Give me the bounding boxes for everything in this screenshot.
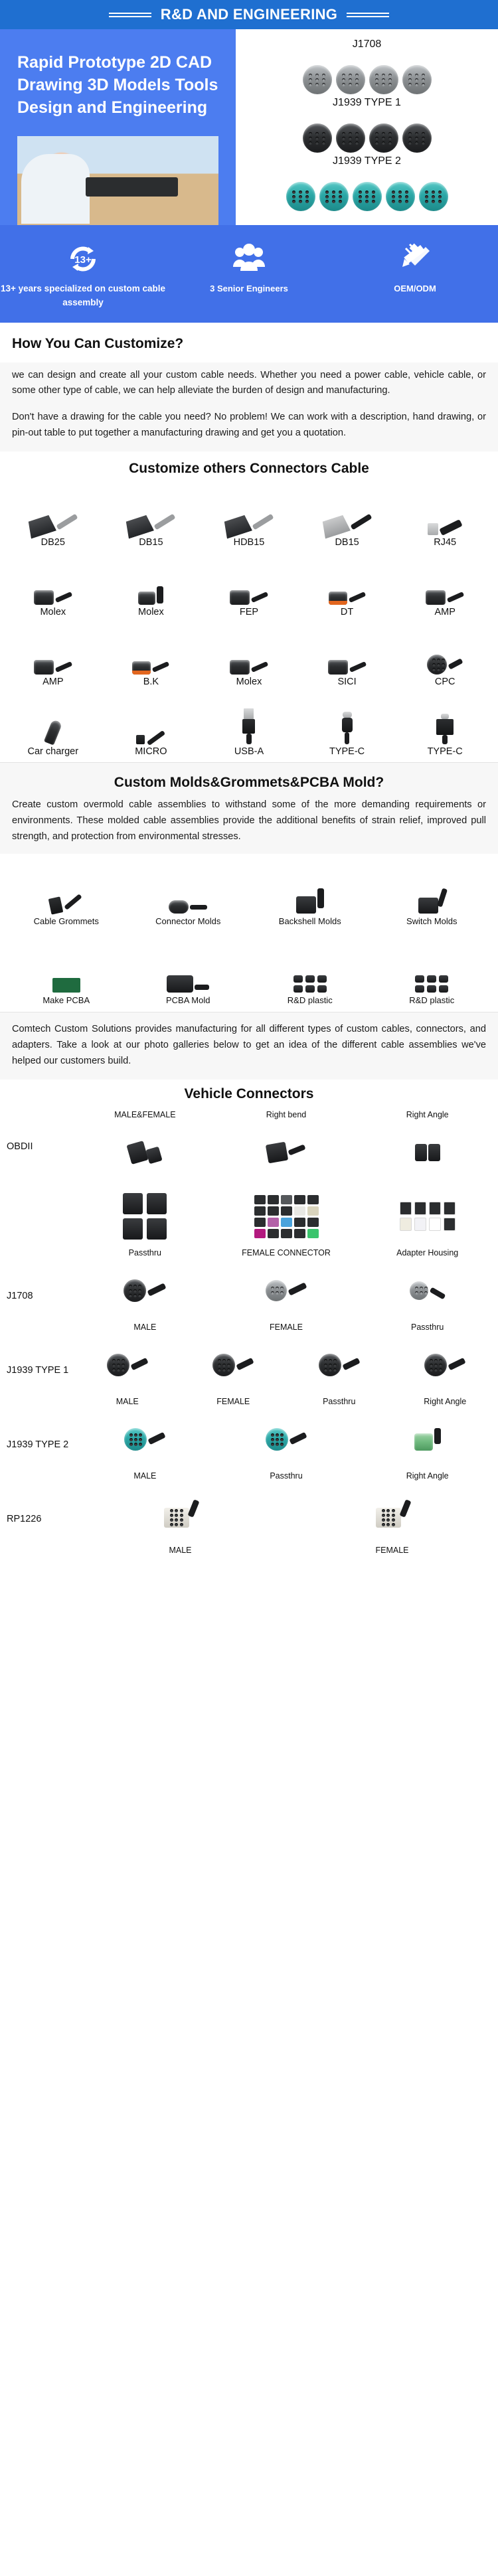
connector-cell[interactable]: HDB15 xyxy=(200,486,298,553)
vehicle-connector-label: FEMALE xyxy=(286,1544,498,1555)
vehicle-connector-row: J1939 TYPE 2MALEPassthruRight Angle xyxy=(0,1408,498,1482)
vehicle-connector-image xyxy=(286,1483,498,1544)
hero-connector-image[interactable] xyxy=(303,65,332,94)
mold-label: Make PCBA xyxy=(5,993,127,1012)
vehicle-connector-image xyxy=(216,1409,357,1470)
vehicle-items: MALEFEMALEPassthruRight Angle xyxy=(74,1334,498,1406)
mold-image xyxy=(127,858,250,914)
hero-connector-image[interactable] xyxy=(402,65,432,94)
connector-cell[interactable]: DB15 xyxy=(298,486,396,553)
vehicle-connector-cell[interactable]: Adapter Housing xyxy=(357,1186,498,1257)
vehicle-connector-label: Adapter Housing xyxy=(357,1247,498,1257)
mold-image xyxy=(127,937,250,993)
vehicle-connector-cell[interactable]: FEMALE xyxy=(181,1334,287,1406)
connector-label: RJ45 xyxy=(396,535,494,553)
mold-image xyxy=(5,937,127,993)
mold-label: R&D plastic xyxy=(249,993,371,1012)
hero-connector-row xyxy=(236,170,498,211)
connector-row: MolexMolexFEPDTAMP xyxy=(0,553,498,623)
mold-row: Make PCBAPCBA MoldR&D plasticR&D plastic xyxy=(0,933,498,1012)
connector-image xyxy=(396,695,494,744)
connector-label: TYPE-C xyxy=(396,744,494,762)
vehicle-connectors-section: Vehicle Connectors OBDIIMALE&FEMALERight… xyxy=(0,1086,498,1556)
molds-title: Custom Molds&Grommets&PCBA Mold? xyxy=(12,775,486,791)
three-people-icon xyxy=(166,240,332,278)
connector-label: DT xyxy=(298,605,396,623)
hero-connector-group: J1708 xyxy=(236,39,498,94)
mold-cell[interactable]: Connector Molds xyxy=(127,858,250,933)
connector-image xyxy=(298,486,396,535)
connector-label: DB25 xyxy=(4,535,102,553)
engineer-at-desk-photo xyxy=(17,136,218,225)
mold-row: Cable GrommetsConnector MoldsBackshell M… xyxy=(0,854,498,933)
vehicle-connector-image xyxy=(216,1122,357,1183)
mold-image xyxy=(371,937,493,993)
connector-label: HDB15 xyxy=(200,535,298,553)
connector-row: AMPB.KMolexSICICPC xyxy=(0,623,498,692)
connector-image xyxy=(102,486,201,535)
stat-caption: 13+ years specialized on custom cable as… xyxy=(0,282,166,309)
hero-connector-group-title: J1708 xyxy=(236,39,498,50)
vehicle-connector-cell[interactable]: FEMALE xyxy=(216,1260,357,1332)
connector-label: MICRO xyxy=(102,744,201,762)
vehicle-category-label: J1939 TYPE 1 xyxy=(0,1365,74,1376)
hero-connector-row xyxy=(236,112,498,153)
hero-connector-image[interactable] xyxy=(386,182,415,211)
vehicle-connector-image xyxy=(74,1186,216,1247)
vehicle-connector-label: FEMALE CONNECTOR xyxy=(216,1247,357,1257)
vehicle-connector-row: OBDIIMALE&FEMALERight bendRight Angle xyxy=(0,1109,498,1184)
connector-cell[interactable]: TYPE-C xyxy=(298,695,396,762)
vehicle-connector-cell[interactable]: FEMALE xyxy=(286,1483,498,1555)
stat-item: 3 Senior Engineers xyxy=(166,240,332,309)
vehicle-connector-label: FEMALE xyxy=(181,1396,287,1406)
vehicle-connector-image xyxy=(392,1334,498,1396)
connector-label: Car charger xyxy=(4,744,102,762)
connector-image xyxy=(4,486,102,535)
vehicle-connector-label: Passthru xyxy=(74,1247,216,1257)
vehicle-connector-label: Passthru xyxy=(216,1470,357,1481)
vehicle-connector-cell[interactable]: Passthru xyxy=(216,1409,357,1481)
connector-cell[interactable]: DB25 xyxy=(4,486,102,553)
hero-connector-image[interactable] xyxy=(353,182,382,211)
mold-cell[interactable]: R&D plastic xyxy=(371,937,493,1012)
vehicle-connector-cell[interactable]: MALE xyxy=(74,1483,286,1555)
connector-image xyxy=(200,486,298,535)
vehicle-connector-image xyxy=(216,1186,357,1247)
hero-connector-group-title: J1939 TYPE 2 xyxy=(236,155,498,167)
stats-strip: 13+13+ years specialized on custom cable… xyxy=(0,225,498,323)
vehicle-connector-image xyxy=(74,1409,216,1470)
connector-cell[interactable]: USB-A xyxy=(200,695,298,762)
vehicle-connector-row: J1939 TYPE 1MALEFEMALEPassthruRight Angl… xyxy=(0,1333,498,1408)
vehicle-connector-image xyxy=(216,1260,357,1321)
connector-cell[interactable]: MICRO xyxy=(102,695,201,762)
mold-cell[interactable]: Make PCBA xyxy=(5,937,127,1012)
connector-image xyxy=(200,695,298,744)
connector-image xyxy=(298,556,396,605)
connector-image xyxy=(396,556,494,605)
vehicle-connector-image xyxy=(74,1334,181,1396)
connector-label: Molex xyxy=(4,605,102,623)
customize-title: How You Can Customize? xyxy=(12,336,486,352)
connector-label: CPC xyxy=(396,675,494,692)
vehicle-category-label: J1939 TYPE 2 xyxy=(0,1439,74,1450)
hero-connector-image[interactable] xyxy=(303,123,332,153)
vehicle-connector-label: Passthru xyxy=(286,1396,392,1406)
vehicle-connector-label: MALE xyxy=(74,1470,216,1481)
hero-headline: Rapid Prototype 2D CAD Drawing 3D Models… xyxy=(17,52,218,119)
connector-cell[interactable]: AMP xyxy=(4,625,102,692)
connector-image xyxy=(4,625,102,675)
connector-image xyxy=(396,486,494,535)
vehicle-connector-label: Right Angle xyxy=(392,1396,498,1406)
hero-connector-image[interactable] xyxy=(286,182,315,211)
connector-label: DB15 xyxy=(298,535,396,553)
hero-connector-image[interactable] xyxy=(419,182,448,211)
mold-cell[interactable]: Switch Molds xyxy=(371,858,493,933)
vehicle-connector-label: MALE xyxy=(74,1544,286,1555)
vehicle-connector-cell[interactable]: Right bend xyxy=(216,1110,357,1183)
vehicle-connector-cell[interactable]: MALE xyxy=(74,1334,181,1406)
mold-cell[interactable]: PCBA Mold xyxy=(127,937,250,1012)
vehicle-items: MALEPassthruRight Angle xyxy=(74,1409,498,1481)
pencil-ruler-icon xyxy=(332,240,498,278)
vehicle-connector-row: J1708MALEFEMALEPassthru xyxy=(0,1259,498,1333)
connector-cell[interactable]: FEP xyxy=(200,556,298,623)
mold-cell[interactable]: R&D plastic xyxy=(249,937,371,1012)
connector-image xyxy=(298,695,396,744)
vehicle-connector-label: Right Angle xyxy=(357,1470,498,1481)
connector-cell[interactable]: DT xyxy=(298,556,396,623)
connector-label: TYPE-C xyxy=(298,744,396,762)
vehicle-connector-image xyxy=(357,1260,498,1321)
hero-connector-image[interactable] xyxy=(369,65,398,94)
connector-image xyxy=(102,556,201,605)
mold-cell[interactable]: Backshell Molds xyxy=(249,858,371,933)
vehicle-connector-image xyxy=(357,1122,498,1183)
connectors-cable-section: Customize others Connectors Cable DB25DB… xyxy=(0,461,498,762)
connector-image xyxy=(102,695,201,744)
vehicle-connector-row: PassthruFEMALE CONNECTORAdapter Housing xyxy=(0,1184,498,1259)
connector-cell[interactable]: Molex xyxy=(4,556,102,623)
connector-image xyxy=(200,625,298,675)
vehicle-connector-image xyxy=(74,1260,216,1321)
vehicle-connector-label: Right Angle xyxy=(357,1110,498,1122)
connector-image xyxy=(298,625,396,675)
mold-label: Connector Molds xyxy=(127,914,250,933)
hero-connector-image[interactable] xyxy=(402,123,432,153)
stat-caption: OEM/ODM xyxy=(332,282,498,295)
vehicle-connector-cell[interactable]: FEMALE CONNECTOR xyxy=(216,1186,357,1257)
vehicle-connector-image xyxy=(357,1186,498,1247)
vehicle-items: MALE&FEMALERight bendRight Angle xyxy=(74,1110,498,1183)
connector-label: AMP xyxy=(4,675,102,692)
hero-left-panel: Rapid Prototype 2D CAD Drawing 3D Models… xyxy=(0,29,236,225)
customize-paragraph-1: we can design and create all your custom… xyxy=(12,368,486,399)
mold-cell[interactable]: Cable Grommets xyxy=(5,858,127,933)
mold-image xyxy=(249,858,371,914)
connector-cell[interactable]: Car charger xyxy=(4,695,102,762)
connector-label: SICI xyxy=(298,675,396,692)
connector-label: Molex xyxy=(102,605,201,623)
connector-cell[interactable]: RJ45 xyxy=(396,486,494,553)
hero-connector-image[interactable] xyxy=(319,182,349,211)
hero-connector-group: J1939 TYPE 1 xyxy=(236,97,498,153)
vehicle-category-label: RP1226 xyxy=(0,1514,74,1524)
mold-label: Cable Grommets xyxy=(5,914,127,933)
connector-cell[interactable]: Molex xyxy=(200,625,298,692)
banner-rule-right xyxy=(347,13,389,17)
molds-gallery: Cable GrommetsConnector MoldsBackshell M… xyxy=(0,854,498,1012)
connector-label: B.K xyxy=(102,675,201,692)
mold-image xyxy=(5,858,127,914)
connector-image xyxy=(4,556,102,605)
vehicle-connector-cell[interactable]: MALE xyxy=(74,1409,216,1481)
page-banner: R&D AND ENGINEERING xyxy=(0,0,498,29)
vehicle-category-label: OBDII xyxy=(0,1141,74,1152)
customize-paragraph-2: Don't have a drawing for the cable you n… xyxy=(12,410,486,441)
vehicle-connector-image xyxy=(357,1409,498,1470)
vehicle-connector-cell[interactable]: Passthru xyxy=(74,1186,216,1257)
vehicle-connector-image xyxy=(74,1483,286,1544)
hero-connector-row xyxy=(236,53,498,94)
connector-row: DB25DB15HDB15DB15RJ45 xyxy=(0,483,498,553)
connector-label: FEP xyxy=(200,605,298,623)
stat-item: OEM/ODM xyxy=(332,240,498,309)
vehicle-connector-cell[interactable]: MALE&FEMALE xyxy=(74,1110,216,1183)
hero-connector-group: J1939 TYPE 2 xyxy=(236,155,498,211)
banner-title: R&D AND ENGINEERING xyxy=(161,6,337,23)
vehicle-connector-label: Right bend xyxy=(216,1110,357,1122)
molds-paragraph: Create custom overmold cable assemblies … xyxy=(12,797,486,845)
vehicle-connector-cell[interactable]: Passthru xyxy=(357,1260,498,1332)
connector-image xyxy=(4,695,102,744)
connector-cell[interactable]: DB15 xyxy=(102,486,201,553)
mold-label: R&D plastic xyxy=(371,993,493,1012)
vehicle-items: PassthruFEMALE CONNECTORAdapter Housing xyxy=(74,1186,498,1257)
connector-cell[interactable]: Molex xyxy=(102,556,201,623)
vehicle-connector-cell[interactable]: Right Angle xyxy=(357,1409,498,1481)
connector-cell[interactable]: SICI xyxy=(298,625,396,692)
vehicle-connector-cell[interactable]: Right Angle xyxy=(357,1110,498,1183)
vehicle-connector-label: MALE xyxy=(74,1321,216,1332)
vehicle-items: MALEFEMALE xyxy=(74,1483,498,1555)
stat-caption: 3 Senior Engineers xyxy=(166,282,332,295)
connector-label: AMP xyxy=(396,605,494,623)
vehicle-connector-image xyxy=(74,1122,216,1183)
connector-label: USB-A xyxy=(200,744,298,762)
connectors-cable-title: Customize others Connectors Cable xyxy=(0,461,498,477)
vehicle-connector-cell[interactable]: MALE xyxy=(74,1260,216,1332)
connector-row: Car chargerMICROUSB-ATYPE-CTYPE-C xyxy=(0,692,498,762)
vehicle-connector-label: MALE xyxy=(74,1396,181,1406)
hero-connector-image[interactable] xyxy=(369,123,398,153)
connector-cell[interactable]: CPC xyxy=(396,625,494,692)
mold-label: PCBA Mold xyxy=(127,993,250,1012)
connector-image xyxy=(200,556,298,605)
vehicle-connector-row: RP1226MALEFEMALE xyxy=(0,1482,498,1556)
hero-connector-group-title: J1939 TYPE 1 xyxy=(236,97,498,109)
connector-cell[interactable]: AMP xyxy=(396,556,494,623)
vehicle-connector-label: Passthru xyxy=(357,1321,498,1332)
intro-section: Comtech Custom Solutions provides manufa… xyxy=(0,1012,498,1080)
customize-section: How You Can Customize? xyxy=(0,323,498,362)
connector-image xyxy=(396,625,494,675)
svg-text:13+: 13+ xyxy=(74,254,92,266)
banner-rule-left xyxy=(109,13,151,17)
stat-item: 13+13+ years specialized on custom cable… xyxy=(0,240,166,309)
mold-image xyxy=(249,937,371,993)
vehicle-connector-cell[interactable]: Passthru xyxy=(286,1334,392,1406)
vehicle-connectors-title: Vehicle Connectors xyxy=(0,1086,498,1102)
connector-cell[interactable]: B.K xyxy=(102,625,201,692)
connector-label: Molex xyxy=(200,675,298,692)
mold-image xyxy=(371,858,493,914)
hero-connector-gallery: J1708J1939 TYPE 1J1939 TYPE 2 xyxy=(236,29,498,225)
hero-connector-image[interactable] xyxy=(336,123,365,153)
vehicle-connector-label: MALE&FEMALE xyxy=(74,1110,216,1122)
vehicle-category-label: J1708 xyxy=(0,1291,74,1301)
vehicle-connector-label: FEMALE xyxy=(216,1321,357,1332)
vehicle-connector-cell[interactable]: Right Angle xyxy=(392,1334,498,1406)
mold-label: Backshell Molds xyxy=(249,914,371,933)
hero-section: Rapid Prototype 2D CAD Drawing 3D Models… xyxy=(0,29,498,225)
customize-body: we can design and create all your custom… xyxy=(0,362,498,452)
mold-label: Switch Molds xyxy=(371,914,493,933)
vehicle-connector-image xyxy=(181,1334,287,1396)
vehicle-items: MALEFEMALEPassthru xyxy=(74,1260,498,1332)
connector-image xyxy=(102,625,201,675)
vehicle-connector-image xyxy=(286,1334,392,1396)
hero-connector-image[interactable] xyxy=(336,65,365,94)
intro-paragraph: Comtech Custom Solutions provides manufa… xyxy=(12,1022,486,1069)
connector-label: DB15 xyxy=(102,535,201,553)
recycle-13-plus-icon: 13+ xyxy=(0,240,166,278)
molds-section: Custom Molds&Grommets&PCBA Mold? Create … xyxy=(0,763,498,854)
connector-cell[interactable]: TYPE-C xyxy=(396,695,494,762)
